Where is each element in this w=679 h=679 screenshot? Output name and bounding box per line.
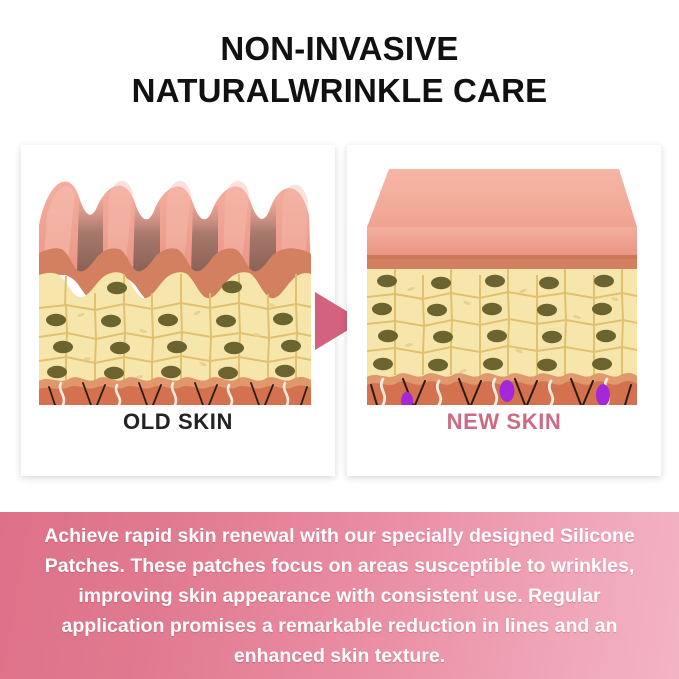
description-banner-text: Achieve rapid skin renewal with our spec… — [26, 521, 654, 671]
page-title-line-1: NON-INVASIVE — [0, 28, 679, 70]
product-infographic-page: NON-INVASIVE NATURALWRINKLE CARE — [0, 0, 679, 679]
comparison-card-new-skin: NEW SKIN — [347, 145, 661, 476]
card-label-old-skin: OLD SKIN — [21, 409, 335, 435]
card-label-new-skin: NEW SKIN — [347, 409, 661, 435]
smooth-skin-cross-section-illustration — [347, 145, 661, 405]
page-title: NON-INVASIVE NATURALWRINKLE CARE — [0, 28, 679, 112]
comparison-card-old-skin: OLD SKIN — [21, 145, 335, 476]
page-title-line-2: NATURALWRINKLE CARE — [0, 70, 679, 112]
wrinkled-skin-cross-section-illustration — [21, 145, 335, 405]
description-banner: Achieve rapid skin renewal with our spec… — [0, 512, 679, 679]
